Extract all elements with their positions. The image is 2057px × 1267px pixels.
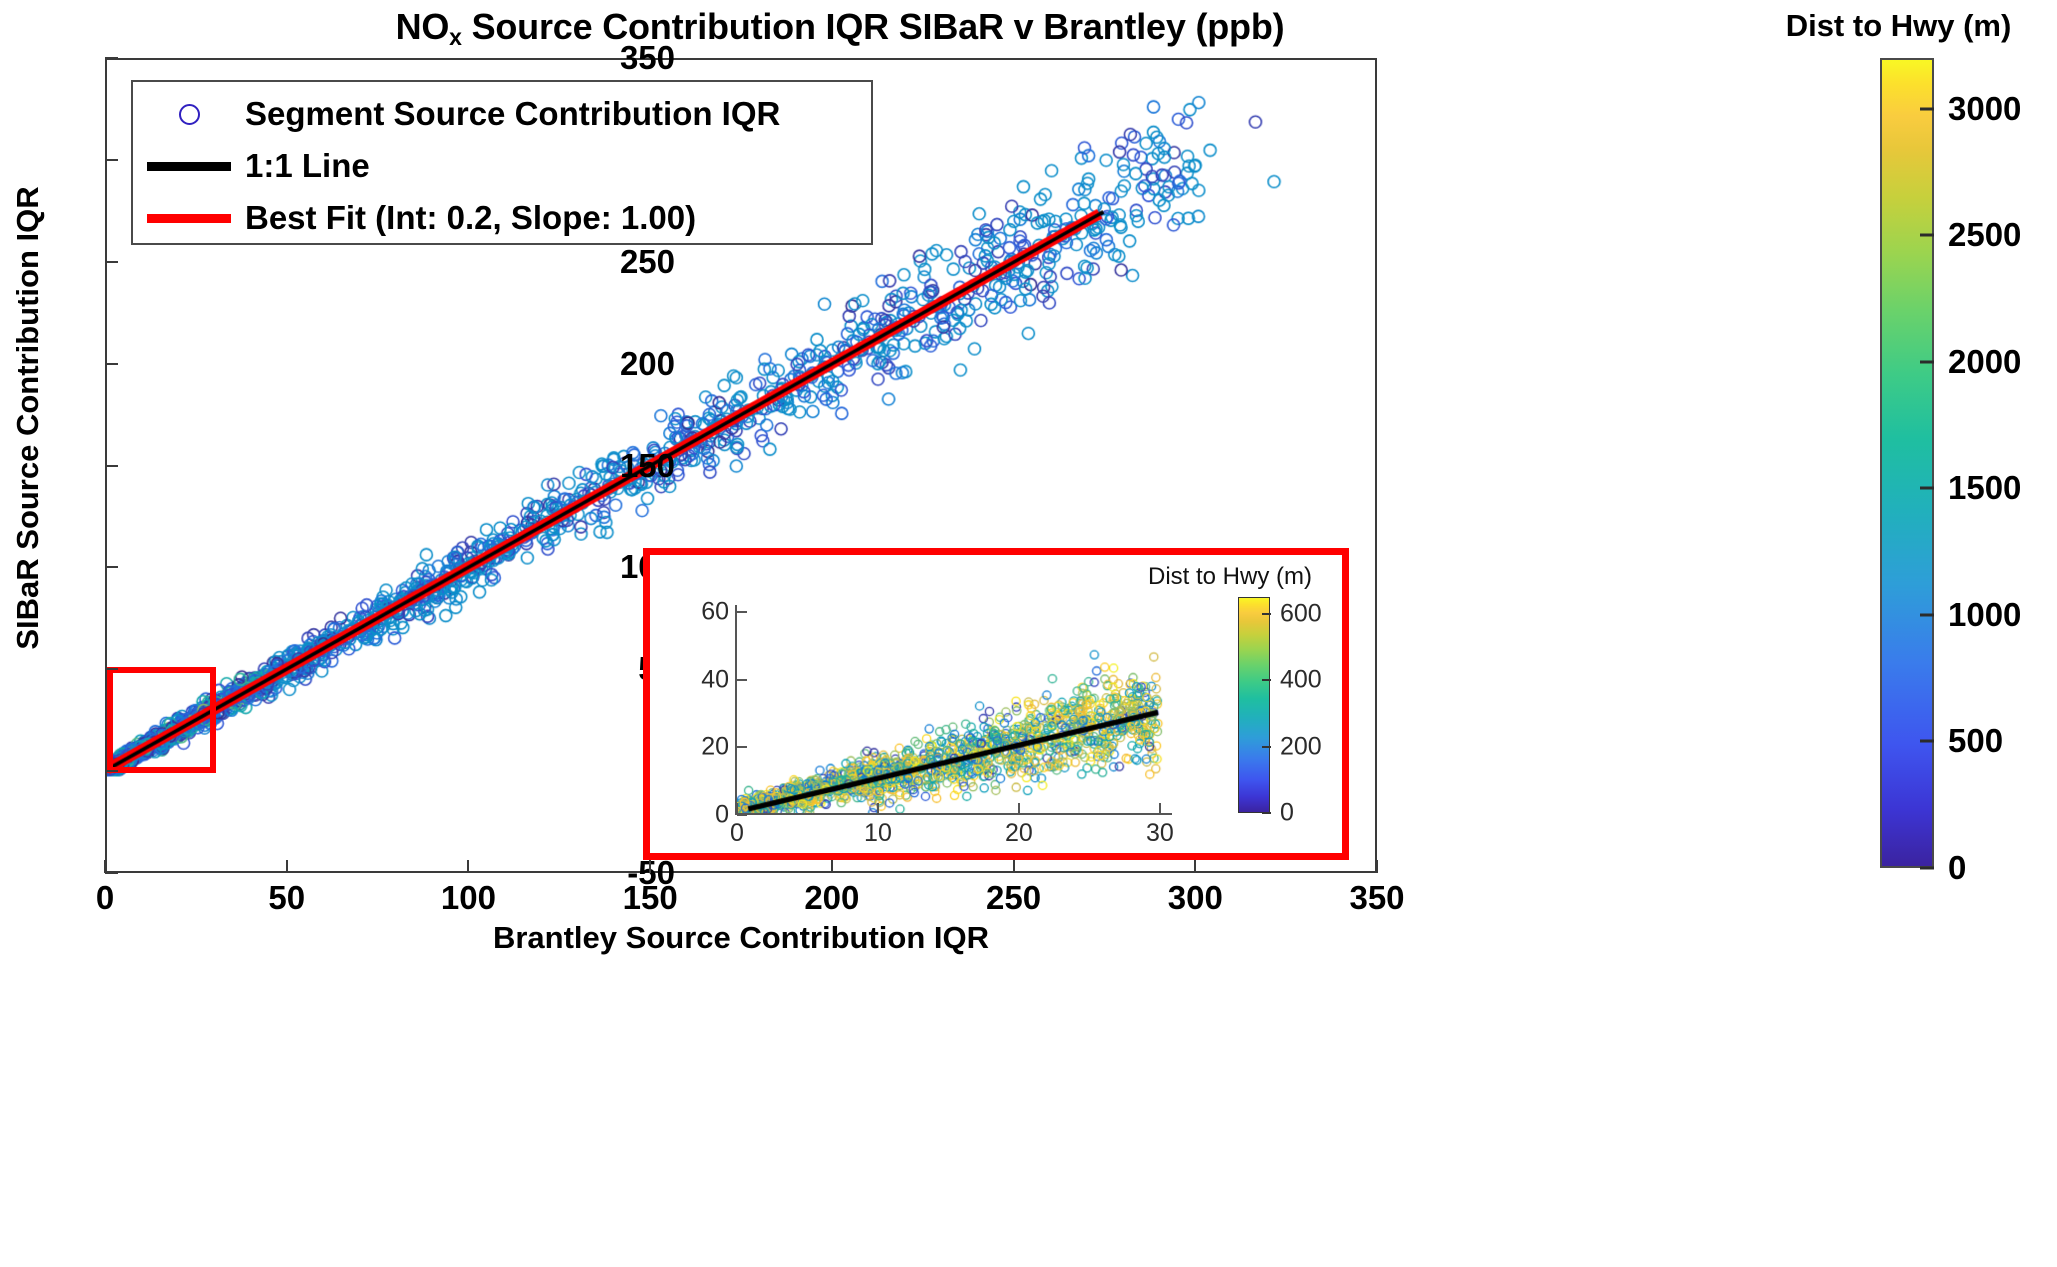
inset-colorbar-tick-mark [1262, 613, 1271, 615]
inset-plot-area: 0204060 0102030 [735, 605, 1172, 815]
y-tick-label: 350 [555, 39, 675, 77]
colorbar-tick-mark [1920, 867, 1934, 870]
inset-colorbar-tick-mark [1262, 746, 1271, 748]
inset-colorbar-tick-label: 600 [1280, 599, 1322, 628]
colorbar-tick-mark [1920, 740, 1934, 743]
colorbar-wrap [1880, 58, 1934, 868]
chart-root: NOx Source Contribution IQR SIBaR v Bran… [0, 0, 2057, 1267]
x-tick-mark [104, 860, 106, 873]
legend-item-one-to-one[interactable]: 1:1 Line [133, 140, 871, 192]
colorbar-tick-label: 500 [1948, 722, 2003, 760]
y-tick-label: 150 [555, 447, 675, 485]
x-tick-label: 50 [217, 879, 357, 917]
inset-colorbar-tick-label: 200 [1280, 732, 1322, 761]
title-main: NO [396, 6, 450, 47]
inset-colorbar-tick-label: 400 [1280, 666, 1322, 695]
y-tick-mark [105, 465, 118, 467]
inset-y-tick-mark [737, 679, 747, 681]
inset-x-tick-mark [736, 803, 738, 813]
legend-item-best-fit[interactable]: Best Fit (Int: 0.2, Slope: 1.00) [133, 192, 871, 244]
x-tick-label: 100 [398, 879, 538, 917]
inset-x-tick-mark [1018, 803, 1020, 813]
inset-colorbar-tick-mark [1262, 679, 1271, 681]
x-tick-label: 300 [1125, 879, 1265, 917]
inset-panel: 0204060 0102030 Dist to Hwy (m) 60040020… [643, 548, 1349, 860]
inset-colorbar-tick-label: 0 [1280, 799, 1294, 828]
y-tick-mark [105, 770, 118, 772]
x-tick-label: 0 [35, 879, 175, 917]
inset-y-tick-mark [737, 814, 747, 816]
colorbar-tick-mark [1920, 360, 1934, 363]
inset-y-tick-label: 0 [715, 801, 729, 830]
colorbar-tick-label: 2500 [1948, 216, 2021, 254]
y-tick-mark [105, 57, 118, 59]
black-line-icon [133, 162, 245, 171]
inset-x-tick-mark [877, 803, 879, 813]
inset-scatter-canvas [737, 605, 1172, 813]
x-tick-mark [649, 860, 651, 873]
colorbar-tick-mark [1920, 613, 1934, 616]
colorbar-tick-mark [1920, 487, 1934, 490]
x-axis-label: Brantley Source Contribution IQR [105, 920, 1377, 956]
x-tick-mark [831, 860, 833, 873]
legend-label-one-to-one: 1:1 Line [245, 147, 370, 185]
x-tick-label: 250 [944, 879, 1084, 917]
y-axis-label: SIBaR Source Contribution IQR [10, 38, 46, 798]
colorbar-gradient [1880, 58, 1934, 868]
inset-colorbar-tick-mark [1262, 812, 1271, 814]
zoom-region-rectangle [107, 667, 216, 773]
colorbar-tick-label: 1500 [1948, 469, 2021, 507]
inset-x-tick-label: 10 [864, 819, 892, 848]
colorbar-tick-label: 0 [1948, 849, 1966, 887]
colorbar-tick-mark [1920, 234, 1934, 237]
colorbar-tick-label: 2000 [1948, 343, 2021, 381]
colorbar-tick-label: 1000 [1948, 596, 2021, 634]
y-tick-mark [105, 261, 118, 263]
x-tick-mark [467, 860, 469, 873]
colorbar-tick-mark [1920, 107, 1934, 110]
title-subscript: x [449, 24, 462, 50]
legend-label-best-fit: Best Fit (Int: 0.2, Slope: 1.00) [245, 199, 696, 237]
circle-marker-icon [133, 104, 245, 125]
legend-label-scatter: Segment Source Contribution IQR [245, 95, 780, 133]
y-tick-mark [105, 159, 118, 161]
inset-colorbar [1238, 597, 1270, 813]
legend-item-scatter[interactable]: Segment Source Contribution IQR [133, 88, 871, 140]
y-tick-label: 200 [555, 345, 675, 383]
x-tick-label: 150 [580, 879, 720, 917]
inset-y-tick-mark [737, 746, 747, 748]
colorbar-title: Dist to Hwy (m) [1740, 8, 2057, 44]
y-tick-mark [105, 363, 118, 365]
inset-x-tick-mark [1159, 803, 1161, 813]
colorbar-tick-label: 3000 [1948, 90, 2021, 128]
x-tick-mark [1194, 860, 1196, 873]
inset-y-tick-label: 40 [701, 665, 729, 694]
chart-title: NOx Source Contribution IQR SIBaR v Bran… [0, 6, 1680, 51]
inset-x-tick-label: 0 [730, 819, 744, 848]
y-tick-mark [105, 668, 118, 670]
inset-y-tick-label: 20 [701, 733, 729, 762]
inset-y-tick-mark [737, 611, 747, 613]
inset-y-tick-label: 60 [701, 597, 729, 626]
x-tick-label: 350 [1307, 879, 1447, 917]
inset-x-tick-label: 20 [1005, 819, 1033, 848]
x-tick-mark [1013, 860, 1015, 873]
y-tick-mark [105, 872, 118, 874]
x-tick-label: 200 [762, 879, 902, 917]
red-line-icon [133, 214, 245, 223]
legend[interactable]: Segment Source Contribution IQR 1:1 Line… [131, 80, 873, 245]
y-tick-label: 250 [555, 243, 675, 281]
inset-x-tick-label: 30 [1146, 819, 1174, 848]
x-tick-mark [286, 860, 288, 873]
y-tick-mark [105, 566, 118, 568]
x-tick-mark [1376, 860, 1378, 873]
inset-colorbar-title: Dist to Hwy (m) [1148, 563, 1312, 591]
